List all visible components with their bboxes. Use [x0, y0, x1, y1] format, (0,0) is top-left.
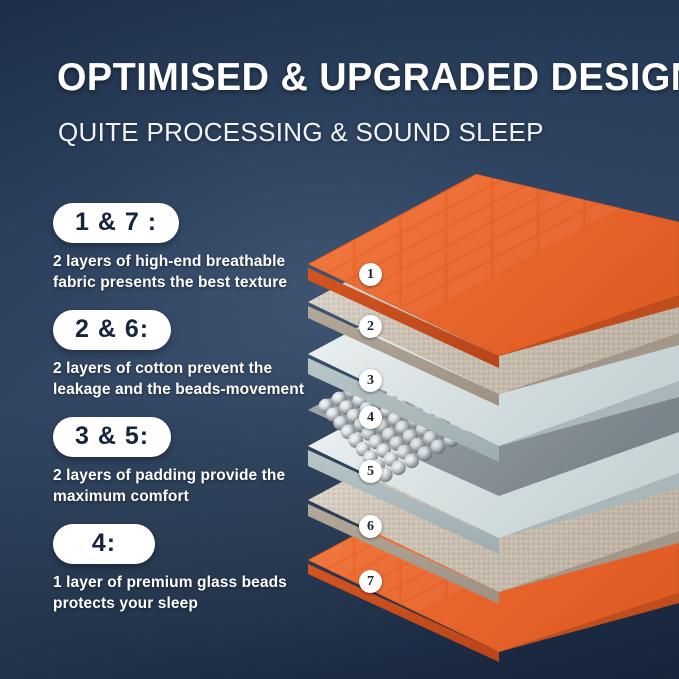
- infographic-canvas: OPTIMISED & UPGRADED DESIGN QUITE PROCES…: [0, 0, 679, 679]
- layer-badge-2: 2: [359, 315, 382, 338]
- callout-3-label: 3 & 5:: [53, 417, 171, 457]
- page-subtitle: QUITE PROCESSING & SOUND SLEEP: [58, 118, 618, 147]
- layer-badge-7: 7: [359, 570, 382, 593]
- callout-4-description: 1 layer of premium glass beads protects …: [53, 573, 315, 614]
- layer-badge-5: 5: [359, 460, 382, 483]
- layer-badge-6: 6: [359, 515, 382, 538]
- callout-3-description: 2 layers of padding provide the maximum …: [53, 466, 315, 507]
- callout-4-label: 4:: [53, 524, 155, 564]
- page-title: OPTIMISED & UPGRADED DESIGN: [57, 58, 620, 99]
- layer-badge-1: 1: [359, 263, 382, 286]
- layer-badge-3: 3: [359, 369, 382, 392]
- callout-2-label: 2 & 6:: [53, 310, 171, 350]
- layer-stack-diagram: 1 2 3 4 5 6 7: [300, 160, 679, 679]
- callout-2-description: 2 layers of cotton prevent the leakage a…: [53, 359, 315, 400]
- layer-stack-svg: [300, 160, 679, 679]
- layer-badge-4: 4: [359, 406, 382, 429]
- callout-1-label: 1 & 7 :: [53, 203, 179, 243]
- callout-1-description: 2 layers of high-end breathable fabric p…: [53, 252, 315, 293]
